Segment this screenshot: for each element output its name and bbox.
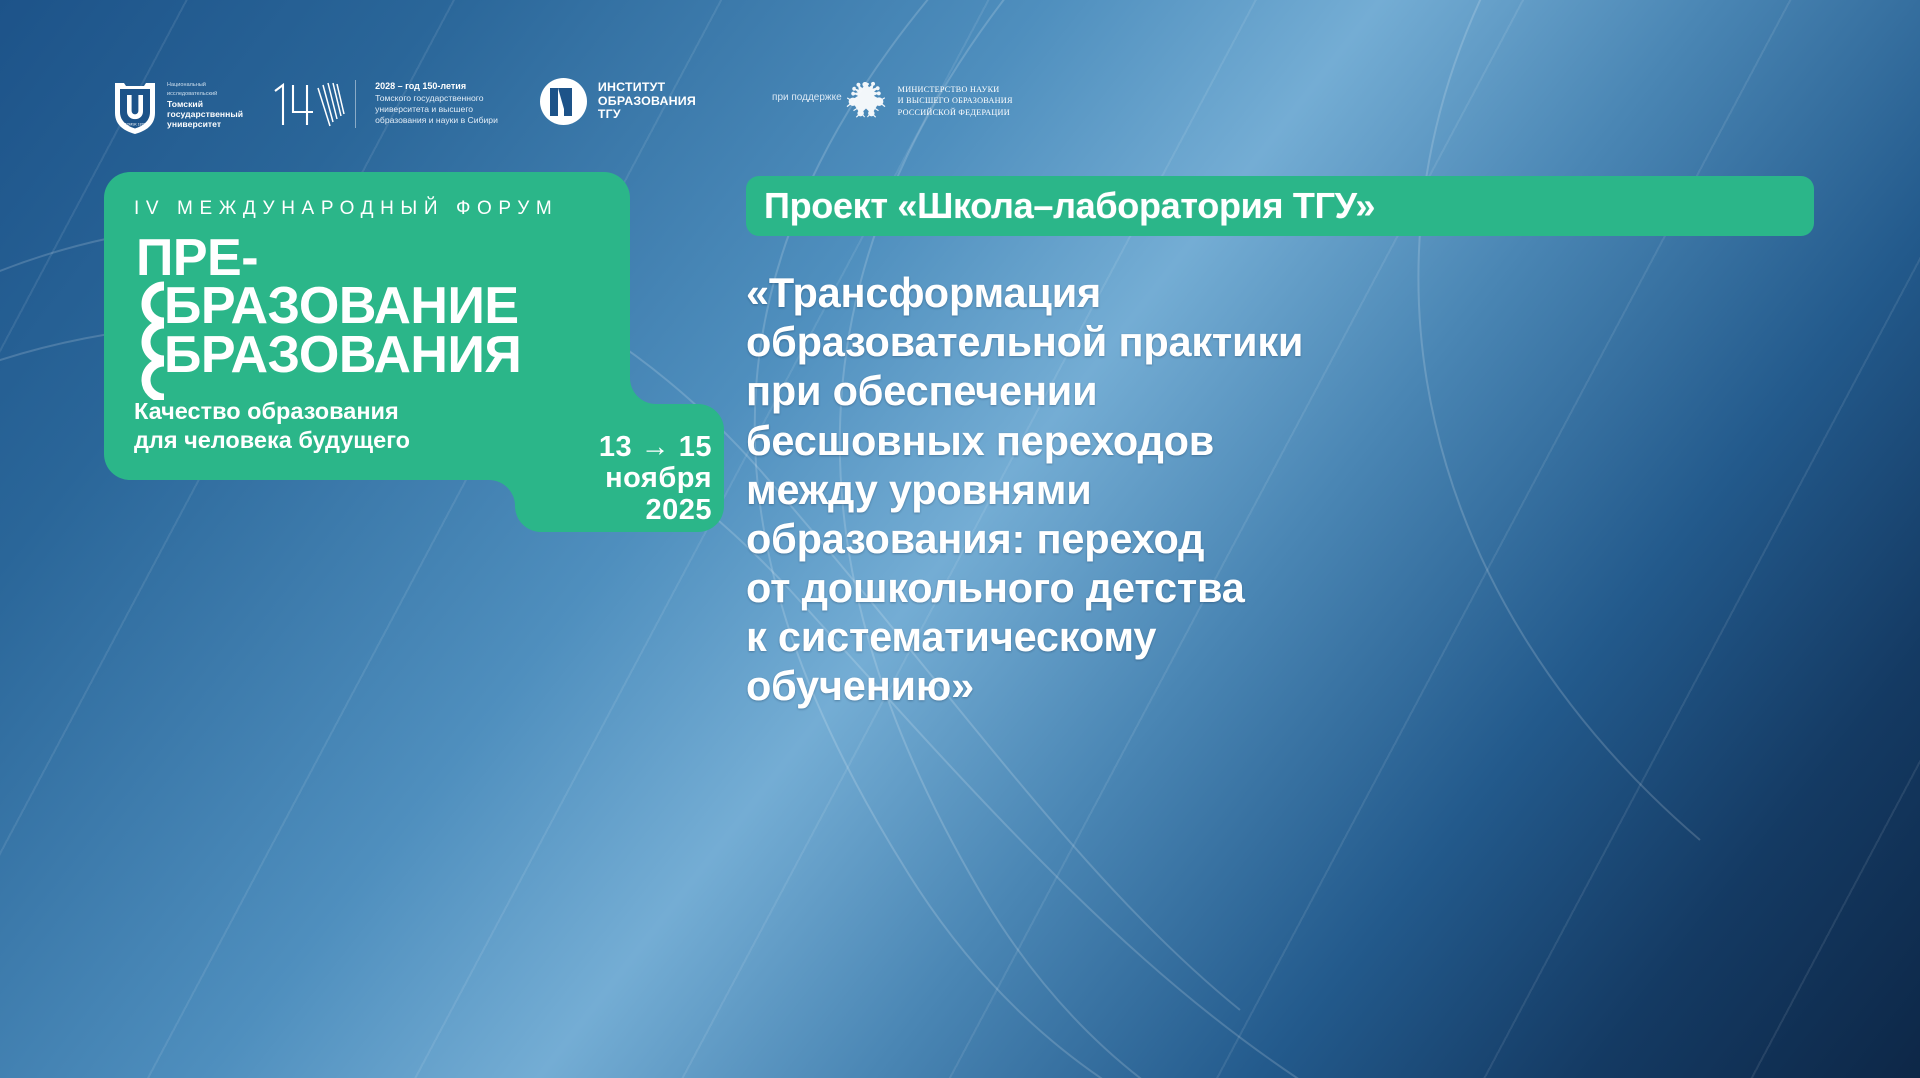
project-title-label: Проект «Школа–лаборатория ТГУ»: [764, 185, 1375, 227]
forum-identity-card: IV МЕЖДУНАРОДНЫЙ ФОРУМ ПРЕ- БРАЗОВАНИЕ Б…: [104, 172, 724, 532]
headline-line: при обеспечении: [746, 366, 1846, 415]
tsu-small-line-2: исследовательский: [167, 91, 243, 97]
forum-date-line-3: 2025: [552, 495, 712, 526]
institute-line-3: ТГУ: [598, 108, 696, 121]
tsu-big-line-3: университет: [167, 119, 243, 129]
tsu-small-line-1: Национальный: [167, 82, 243, 88]
headline-line: образования: переход: [746, 514, 1846, 563]
headline-line: бесшовных переходов: [746, 416, 1846, 465]
forum-wordmark-line-3: БРАЗОВАНИЯ: [136, 331, 634, 379]
headline-line: от дошкольного детства: [746, 563, 1846, 612]
slide-canvas: TOMSK 1878 Национальный исследовательски…: [0, 0, 1920, 1078]
institute-line-2: ОБРАЗОВАНИЯ: [598, 95, 696, 108]
ministry-line-1: МИНИСТЕРСТВО НАУКИ: [898, 84, 1013, 96]
tsu-logo[interactable]: TOMSK 1878 Национальный исследовательски…: [112, 78, 243, 134]
forum-wordmark-arcs-icon: [134, 278, 168, 400]
forum-card-content: IV МЕЖДУНАРОДНЫЙ ФОРУМ ПРЕ- БРАЗОВАНИЕ Б…: [134, 198, 634, 454]
anniversary-line-1: 2028 – год 150-летия: [375, 81, 498, 93]
tsu-big-line-2: государственный: [167, 109, 243, 119]
headline-line: к систематическому: [746, 612, 1846, 661]
ministry-line-3: РОССИЙСКОЙ ФЕДЕРАЦИИ: [898, 107, 1013, 119]
institute-badge-icon: [540, 78, 587, 125]
headline-line: обучению»: [746, 661, 1846, 710]
forum-subtitle-line-1: Качество образования: [134, 397, 634, 426]
anniversary-line-4: образования и науки в Сибири: [375, 115, 498, 126]
anniversary-line-2: Томского государственного: [375, 93, 498, 104]
forum-dates: 13 → 15 ноября 2025: [552, 432, 712, 526]
forum-wordmark-line-2: БРАЗОВАНИЕ: [136, 282, 634, 330]
tsu-shield-icon: TOMSK 1878: [112, 78, 158, 134]
anniversary-logo[interactable]: 2028 – год 150-летия Томского государств…: [271, 78, 498, 130]
ministry-line-2: И ВЫСШЕГО ОБРАЗОВАНИЯ: [898, 95, 1013, 107]
forum-wordmark-line-1: ПРЕ-: [136, 234, 634, 282]
forum-date-line-1: 13 → 15: [552, 432, 712, 463]
institute-of-education-logo[interactable]: ИНСТИТУТ ОБРАЗОВАНИЯ ТГУ: [540, 78, 696, 125]
ministry-support-label: при поддержке: [772, 92, 842, 103]
headline-line: «Трансформация: [746, 268, 1846, 317]
headline-line: между уровнями: [746, 465, 1846, 514]
forum-wordmark: ПРЕ- БРАЗОВАНИЕ БРАЗОВАНИЯ: [136, 234, 634, 379]
anniversary-divider: [355, 80, 356, 128]
tsu-big-line-1: Томский: [167, 99, 243, 109]
forum-date-line-2: ноября: [552, 463, 712, 494]
147-anniversary-icon: [271, 78, 345, 130]
forum-kicker: IV МЕЖДУНАРОДНЫЙ ФОРУМ: [134, 198, 634, 220]
institute-line-1: ИНСТИТУТ: [598, 81, 696, 94]
project-headline: «Трансформация образовательной практики …: [746, 268, 1846, 711]
ministry-logo[interactable]: при поддержке МИНИСТЕРСТВО НАУКИ И ВЫСШЕ…: [750, 78, 1013, 124]
russian-eagle-icon: [842, 78, 888, 124]
project-title-banner: Проект «Школа–лаборатория ТГУ»: [746, 176, 1814, 236]
partner-logo-row: TOMSK 1878 Национальный исследовательски…: [112, 78, 1013, 134]
svg-text:TOMSK 1878: TOMSK 1878: [125, 123, 146, 127]
anniversary-line-3: университета и высшего: [375, 104, 498, 115]
headline-line: образовательной практики: [746, 317, 1846, 366]
